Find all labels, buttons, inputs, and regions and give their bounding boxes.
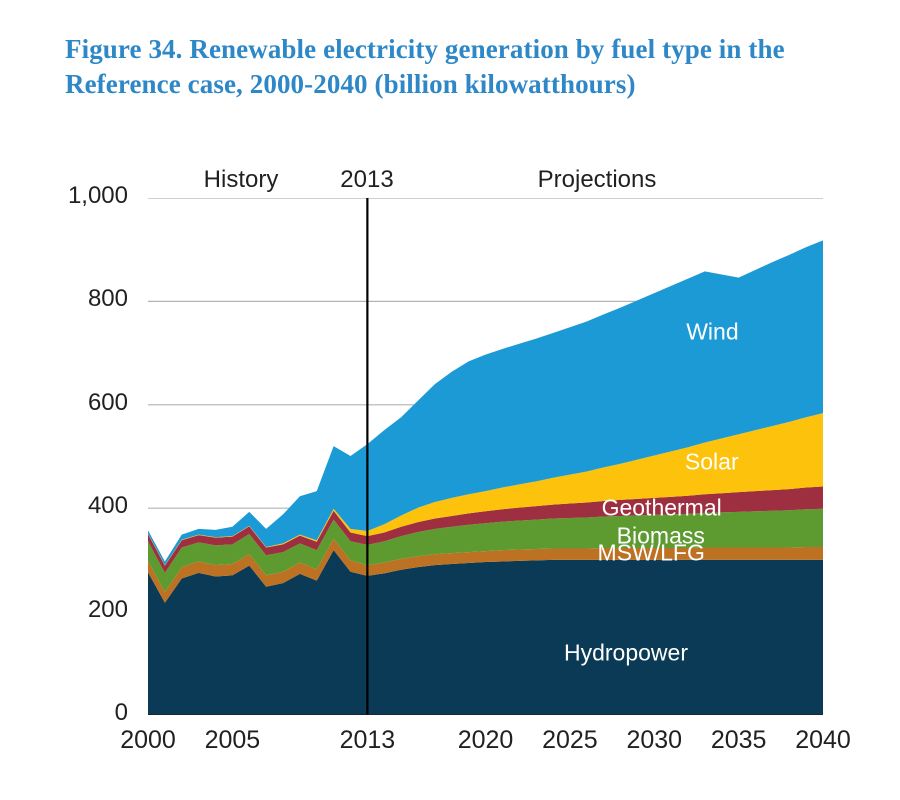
page-title: Figure 34. Renewable electricity generat…: [65, 32, 795, 102]
y-axis-tick-text: 800: [88, 285, 128, 313]
x-axis-tick-label: 2020: [458, 726, 514, 755]
y-axis-labels: 02004006008001,000: [48, 198, 140, 715]
x-axis-tick-label: 2030: [626, 726, 682, 755]
x-axis-tick-label: 2005: [205, 726, 261, 755]
area-hydropower: [148, 550, 823, 715]
x-axis-labels: 20002005201320202025203020352040: [0, 726, 900, 766]
x-axis-tick-label: 2013: [340, 726, 396, 755]
figure-root: Figure 34. Renewable electricity generat…: [0, 0, 900, 800]
x-axis-tick-label: 2000: [120, 726, 176, 755]
y-axis-tick-text: 600: [88, 389, 128, 417]
divider-year-label: 2013: [340, 166, 393, 194]
x-axis-tick-label: 2035: [711, 726, 767, 755]
area-series-group: [148, 240, 823, 715]
y-axis-tick-text: 1,000: [68, 182, 128, 210]
y-axis-tick-text: 0: [115, 699, 128, 727]
projections-label: Projections: [538, 166, 657, 194]
y-axis-tick-text: 400: [88, 492, 128, 520]
stacked-area-chart: [148, 198, 823, 715]
x-axis-tick-label: 2040: [795, 726, 851, 755]
x-axis-tick-label: 2025: [542, 726, 598, 755]
y-axis-tick-text: 200: [88, 596, 128, 624]
plot-area: HydropowerMSW/LFGBiomassGeothermalSolarW…: [148, 198, 823, 715]
history-label: History: [204, 166, 279, 194]
